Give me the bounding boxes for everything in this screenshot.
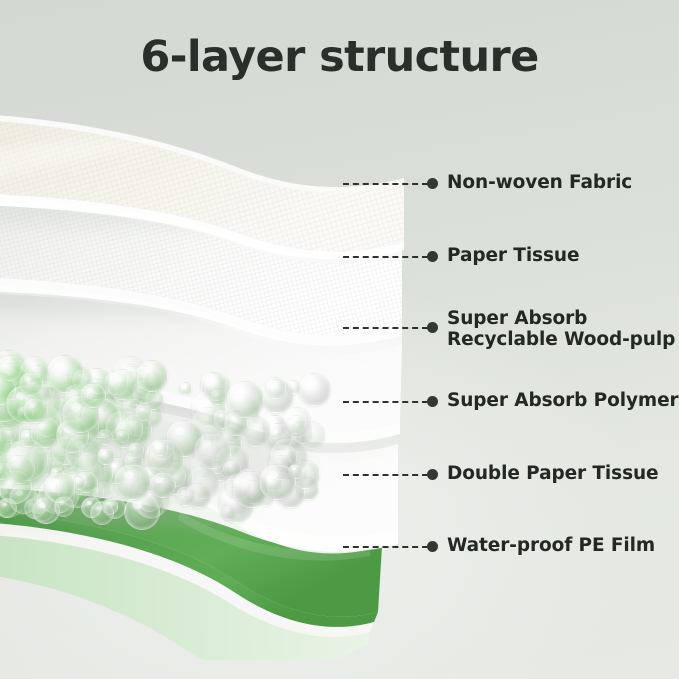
callout-leader-line-wood-pulp: [343, 327, 428, 329]
polymer-bead: [54, 496, 75, 517]
callout-dot-double-tissue: [427, 469, 438, 480]
callout-leader-line-polymer: [343, 401, 428, 403]
structure-infographic: 6-layer structure: [0, 0, 679, 679]
polymer-bead: [107, 369, 138, 400]
polymer-bead: [179, 382, 192, 395]
polymer-bead: [9, 484, 39, 514]
polymer-bead: [5, 455, 35, 485]
polymer-bead: [80, 383, 105, 408]
polymer-bead: [265, 377, 287, 399]
page-title: 6-layer structure: [0, 32, 679, 82]
callout-leader-line-double-tissue: [343, 474, 428, 476]
callout-label-pe-film: Water-proof PE Film: [447, 535, 655, 556]
callout-leader-line-paper-tissue: [343, 256, 428, 258]
callout-label-double-tissue: Double Paper Tissue: [447, 463, 659, 484]
callout-dot-pe-film: [427, 541, 438, 552]
callout-dot-non-woven-fabric: [427, 178, 438, 189]
polymer-bead: [194, 433, 231, 470]
callout-dot-paper-tissue: [427, 251, 438, 262]
polymer-bead: [114, 464, 151, 501]
polymer-bead: [0, 355, 22, 380]
callout-leader-line-pe-film: [343, 546, 428, 548]
polymer-bead: [136, 360, 168, 392]
callout-label-wood-pulp: Super Absorb Recyclable Wood-pulp: [447, 308, 675, 350]
callout-label-paper-tissue: Paper Tissue: [447, 245, 579, 266]
callout-leader-line-non-woven-fabric: [343, 183, 428, 185]
callout-dot-wood-pulp: [427, 322, 438, 333]
polymer-bead: [19, 372, 43, 396]
polymer-bead: [226, 381, 263, 418]
polymer-bead: [150, 472, 176, 498]
polymer-bead: [153, 441, 167, 455]
polymer-bead: [73, 476, 87, 490]
polymer-bead: [90, 501, 114, 525]
polymer-bead: [23, 398, 48, 423]
callout-label-non-woven-fabric: Non-woven Fabric: [447, 172, 632, 193]
polymer-bead: [97, 448, 114, 465]
callout-label-polymer: Super Absorb Polymer: [447, 390, 679, 411]
polymer-bead: [298, 373, 331, 406]
polymer-bead: [287, 380, 301, 394]
polymer-bead: [287, 415, 305, 433]
callout-dot-polymer: [427, 396, 438, 407]
